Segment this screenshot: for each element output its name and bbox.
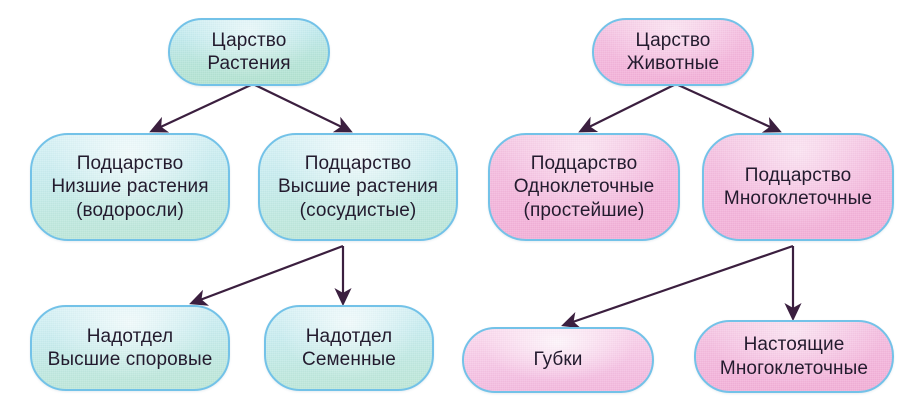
node-plant-spore-line1: Надотдел [48,325,213,348]
node-plant-lower-line3: (водоросли) [51,199,208,222]
node-animal-true-multicellular-line1: Настоящие [720,333,868,356]
node-plant-lower-line2: Низшие растения [51,175,208,198]
node-animal-kingdom-label: Царство Животные [627,29,719,75]
node-plant-higher-subkingdom-label: Подцарство Высшие растения (сосудистые) [278,152,438,222]
node-animal-unicellular-subkingdom-label: Подцарство Одноклеточные (простейшие) [514,152,655,222]
node-plant-lower-subkingdom-label: Подцарство Низшие растения (водоросли) [51,152,208,222]
node-animal-true-multicellular-line2: Многоклеточные [720,357,868,380]
arrow-animal-kingdom-to-unicellular [581,84,676,131]
node-plant-higher-line1: Подцарство [278,152,438,175]
node-animal-multicellular-subkingdom[interactable]: Подцарство Многоклеточные [702,133,894,241]
node-plant-higher-line3: (сосудистые) [278,199,438,222]
node-animal-true-multicellular[interactable]: Настоящие Многоклеточные [694,320,894,393]
node-plant-kingdom-line1: Царство [207,29,290,52]
node-plant-seed-superdivision[interactable]: Надотдел Семенные [264,305,434,391]
node-plant-spore-superdivision-label: Надотдел Высшие споровые [48,325,213,371]
arrow-plant-kingdom-to-higher [253,84,350,131]
node-plant-spore-line2: Высшие споровые [48,348,213,371]
arrow-plant-higher-to-spore [192,246,343,303]
node-plant-seed-line1: Надотдел [302,325,396,348]
node-animal-kingdom-line1: Царство [627,29,719,52]
node-plant-higher-subkingdom[interactable]: Подцарство Высшие растения (сосудистые) [258,133,458,241]
node-animal-unicellular-line1: Подцарство [514,152,655,175]
node-animal-multicellular-line2: Многоклеточные [724,187,872,210]
node-animal-kingdom[interactable]: Царство Животные [592,18,754,86]
node-plant-seed-superdivision-label: Надотдел Семенные [302,325,396,371]
node-plant-kingdom-line2: Растения [207,52,290,75]
arrow-animal-multicellular-to-sponges [564,246,793,325]
node-animal-multicellular-subkingdom-label: Подцарство Многоклеточные [724,164,872,210]
arrow-plant-kingdom-to-lower [152,84,253,131]
node-animal-true-multicellular-label: Настоящие Многоклеточные [720,333,868,379]
node-animal-sponges-line1: Губки [533,348,582,371]
arrow-animal-kingdom-to-multicellular [676,84,779,131]
classification-diagram: Царство Растения Подцарство Низшие расте… [0,0,910,412]
node-plant-lower-subkingdom[interactable]: Подцарство Низшие растения (водоросли) [30,133,230,241]
node-animal-kingdom-line2: Животные [627,52,719,75]
node-plant-seed-line2: Семенные [302,348,396,371]
node-animal-unicellular-subkingdom[interactable]: Подцарство Одноклеточные (простейшие) [488,133,680,241]
node-plant-kingdom-label: Царство Растения [207,29,290,75]
node-plant-lower-line1: Подцарство [51,152,208,175]
node-animal-sponges-label: Губки [533,348,582,371]
node-plant-spore-superdivision[interactable]: Надотдел Высшие споровые [30,305,230,391]
node-animal-unicellular-line3: (простейшие) [514,199,655,222]
node-animal-multicellular-line1: Подцарство [724,164,872,187]
node-plant-higher-line2: Высшие растения [278,175,438,198]
node-animal-sponges[interactable]: Губки [462,327,654,393]
node-animal-unicellular-line2: Одноклеточные [514,175,655,198]
node-plant-kingdom[interactable]: Царство Растения [168,18,330,86]
